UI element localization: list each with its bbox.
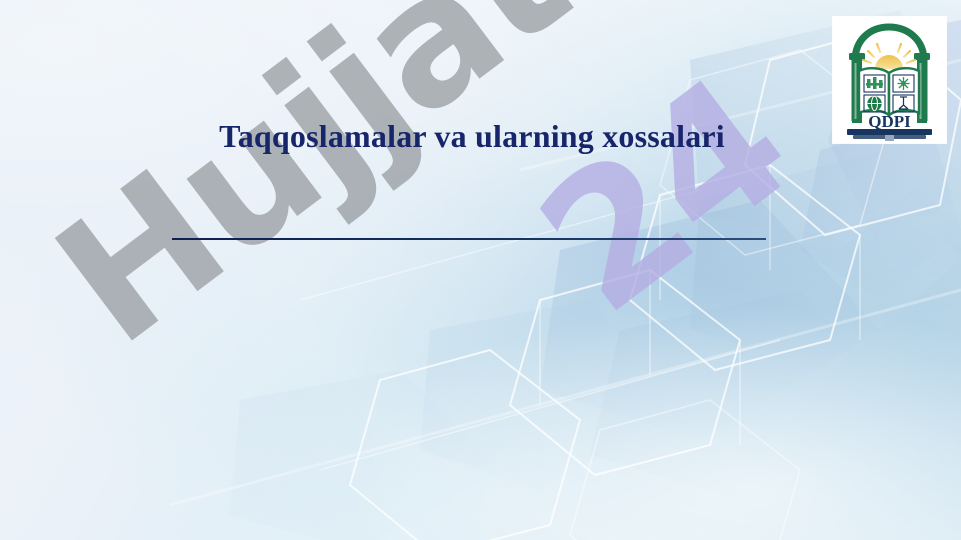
- slide-background-sheen: [0, 0, 961, 540]
- qdpi-logo-caption: QDPI: [868, 112, 911, 131]
- presentation-slide: 24 Hujjat Taqqoslamalar va ularning xoss…: [0, 0, 961, 540]
- qdpi-emblem-icon: QDPI: [833, 17, 946, 143]
- slide-title: Taqqoslamalar va ularning xossalari: [172, 116, 772, 156]
- qdpi-logo: QDPI: [833, 17, 946, 143]
- title-divider-rule: [172, 238, 766, 240]
